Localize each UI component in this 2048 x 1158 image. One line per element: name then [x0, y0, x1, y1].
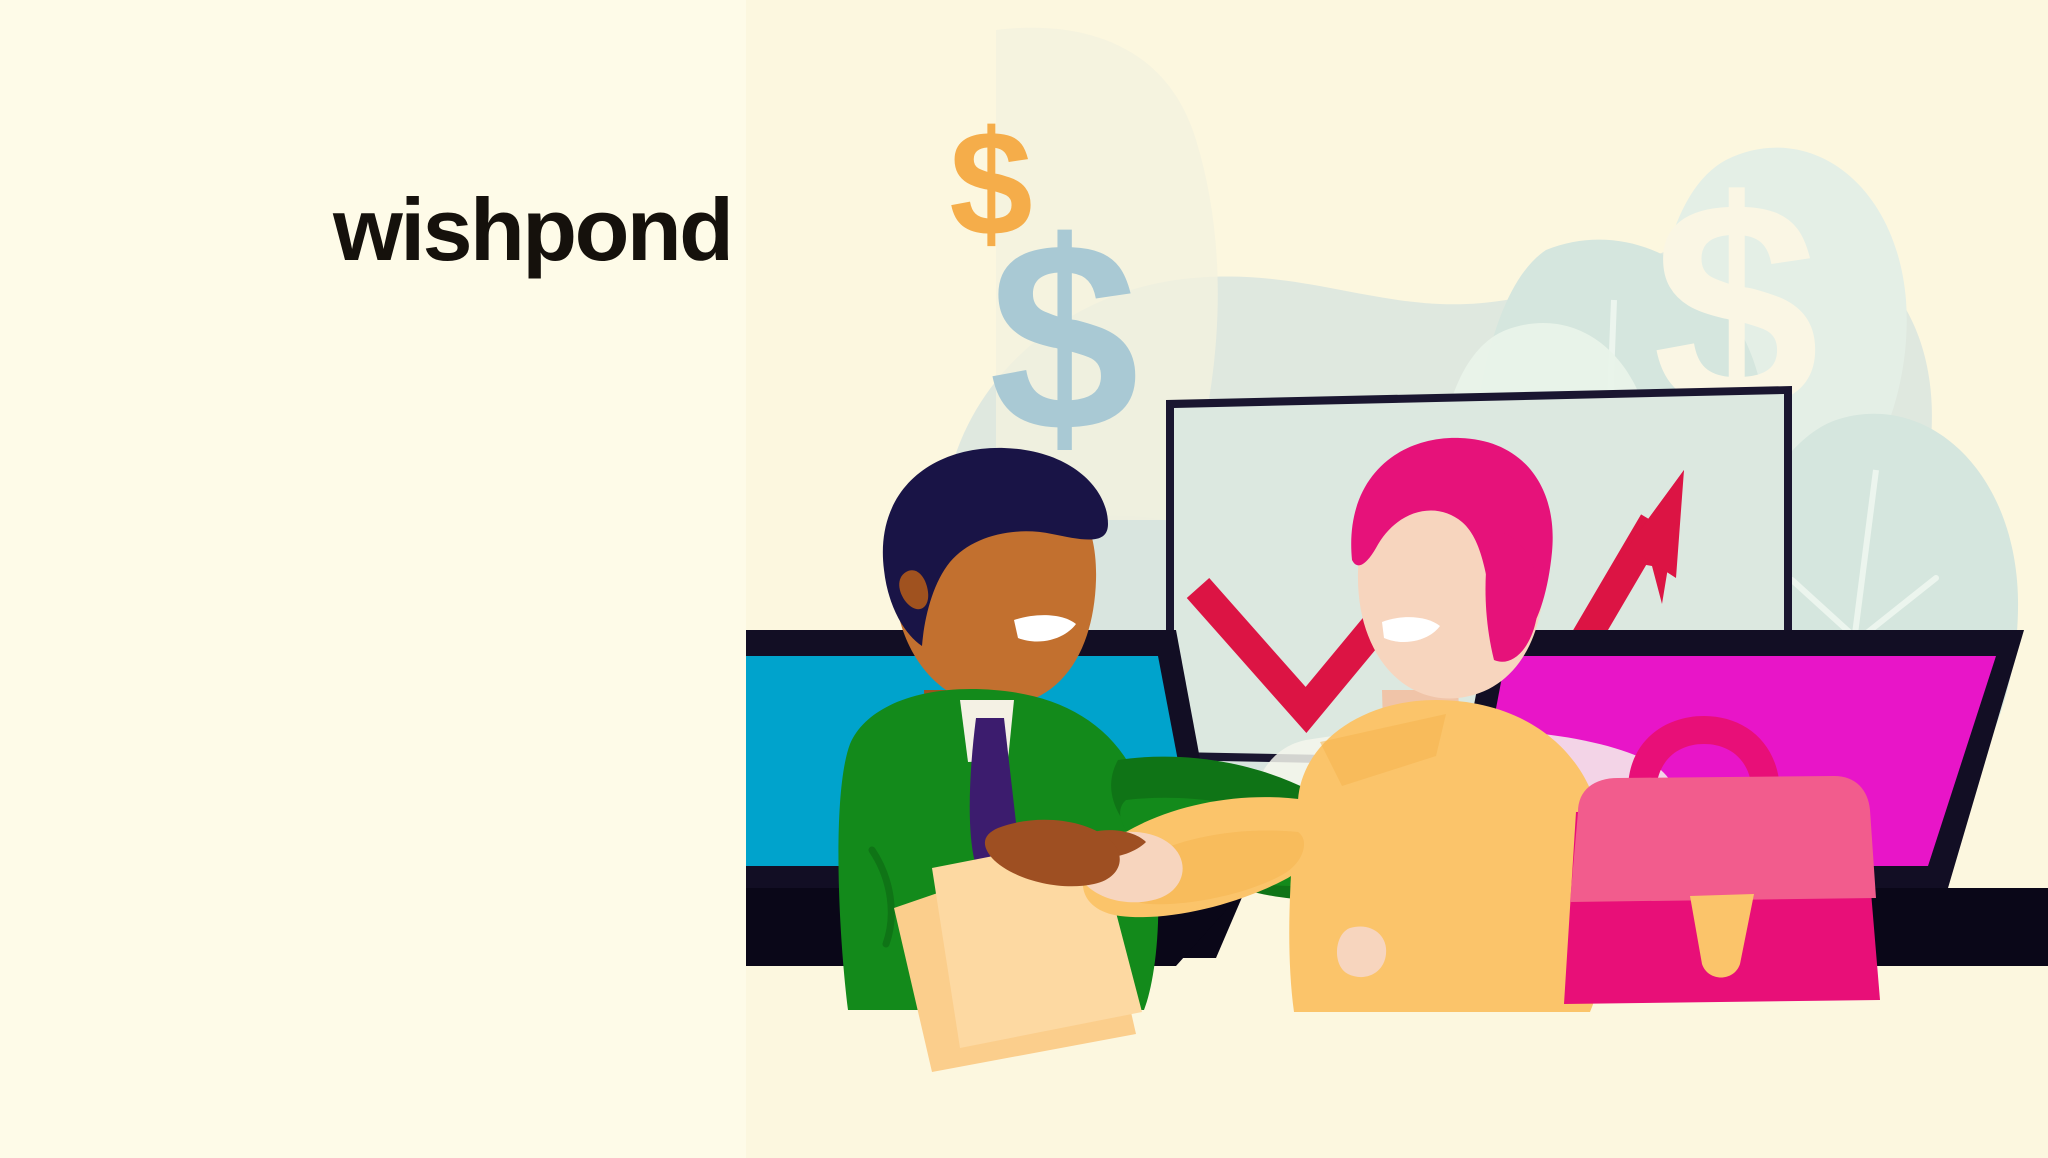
wishpond-wordmark: wishpond: [333, 186, 731, 274]
background-panel-left: [0, 0, 746, 1158]
dollar-sign-orange: $: [949, 99, 1032, 267]
svg-text:$: $: [949, 99, 1032, 267]
hero-illustration: $ $ $: [746, 0, 2048, 1158]
banner-canvas: wishpond: [0, 0, 2048, 1158]
